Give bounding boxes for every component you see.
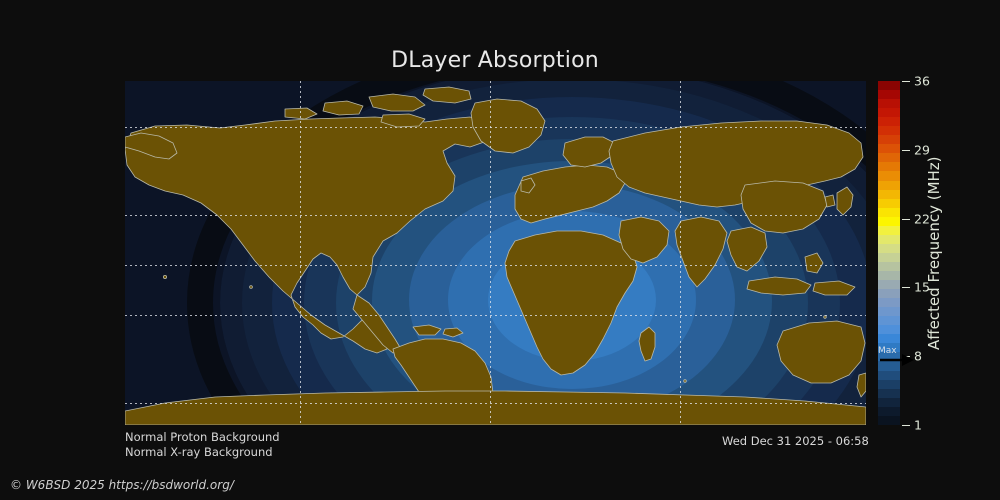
colorbar-band [878, 253, 900, 262]
colorbar-band [878, 99, 900, 108]
colorbar-band [878, 262, 900, 271]
colorbar-tick-label: 1 [914, 418, 922, 433]
colorbar-band [878, 162, 900, 171]
colorbar-band [878, 325, 900, 334]
colorbar-band [878, 135, 900, 144]
colorbar-band [878, 389, 900, 398]
colorbar-band [878, 380, 900, 389]
colorbar-band [878, 81, 900, 90]
colorbar-band [878, 171, 900, 180]
colorbar-band [878, 289, 900, 298]
colorbar-band [878, 398, 900, 407]
colorbar-band [878, 361, 900, 370]
colorbar-band [878, 371, 900, 380]
colorbar-band [878, 298, 900, 307]
colorbar-band [878, 271, 900, 280]
colorbar-band [878, 244, 900, 253]
colorbar-band [878, 190, 900, 199]
colorbar-band [878, 226, 900, 235]
colorbar-axis-label: Affected Frequency (MHz) [924, 81, 944, 425]
colorbar-tick [902, 81, 910, 82]
proton-background-note: Normal Proton Background [125, 430, 280, 444]
colorbar-band [878, 181, 900, 190]
colorbar-gradient [878, 81, 900, 425]
colorbar-band [878, 144, 900, 153]
colorbar-tick [902, 219, 910, 220]
timestamp: Wed Dec 31 2025 - 06:58 [722, 434, 869, 448]
colorbar-tick [902, 150, 910, 151]
colorbar-band [878, 108, 900, 117]
colorbar-tick [902, 356, 910, 357]
colorbar-band [878, 352, 900, 361]
colorbar-band [878, 117, 900, 126]
colorbar-band [878, 90, 900, 99]
page-title: DLayer Absorption [0, 48, 990, 73]
colorbar-band [878, 416, 900, 425]
xray-background-note: Normal X-ray Background [125, 445, 273, 459]
colorbar-band [878, 307, 900, 316]
colorbar-tick [902, 287, 910, 288]
colorbar-tick [902, 425, 910, 426]
map-plot-area [125, 81, 866, 425]
colorbar-band [878, 343, 900, 352]
world-map-svg [125, 81, 866, 425]
colorbar-band [878, 407, 900, 416]
colorbar-band [878, 208, 900, 217]
dlayer-absorption-screenshot: DLayer Absorption [0, 0, 1000, 500]
colorbar: 3629221581 [878, 81, 900, 425]
colorbar-tick-label: 8 [914, 349, 922, 364]
colorbar-band [878, 199, 900, 208]
copyright-notice: © W6BSD 2025 https://bsdworld.org/ [10, 478, 234, 492]
colorbar-band [878, 235, 900, 244]
colorbar-band [878, 153, 900, 162]
colorbar-band [878, 280, 900, 289]
colorbar-band [878, 334, 900, 343]
colorbar-band [878, 316, 900, 325]
colorbar-band [878, 126, 900, 135]
colorbar-band [878, 217, 900, 226]
